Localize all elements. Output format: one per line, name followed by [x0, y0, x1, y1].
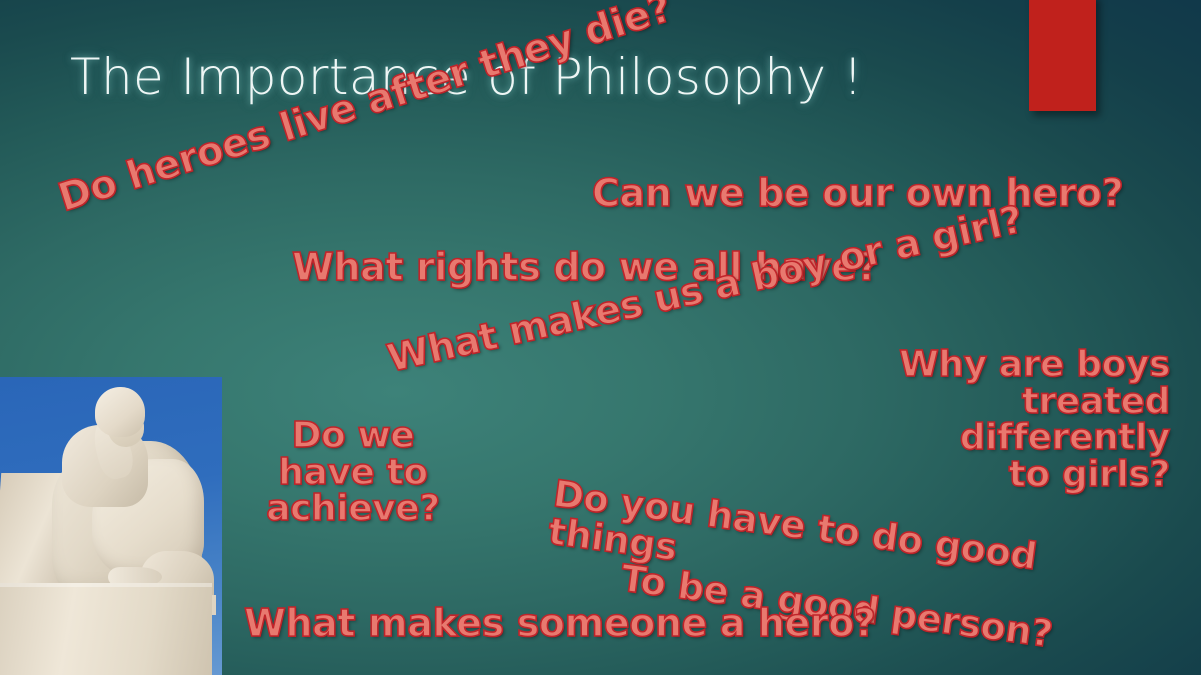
socrates-statue-image [0, 377, 222, 675]
accent-bar-decoration [1029, 0, 1096, 111]
statue-head [95, 387, 145, 437]
question-what-makes-someone-a-hero: What makes someone a hero? [244, 604, 876, 643]
question-do-we-have-to-achieve: Do we have to achieve? [258, 418, 448, 528]
question-achieve-line-3: achieve? [266, 488, 440, 529]
question-why-boys-line-1: Why are boys [899, 344, 1170, 385]
presentation-slide: The Importance of Philosophy ! Do heroes… [0, 0, 1201, 675]
question-achieve-line-1: Do we [292, 415, 415, 456]
question-achieve-line-2: have to [278, 452, 427, 493]
question-heroes-die: Do heroes live after they die? [54, 0, 676, 219]
question-why-boys-line-2: treated differently [960, 381, 1170, 459]
question-why-boys-line-3: to girls? [1009, 454, 1170, 495]
question-own-hero: Can we be our own hero? [592, 174, 1123, 213]
question-why-boys-treated-differently: Why are boys treated differently to girl… [810, 347, 1170, 494]
statue-plinth [0, 583, 212, 675]
